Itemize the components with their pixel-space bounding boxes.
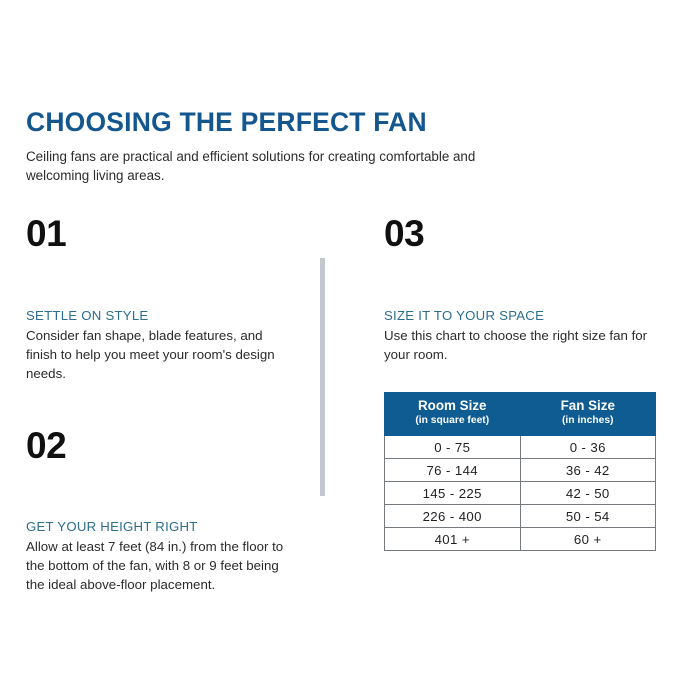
step-number-02: 02 xyxy=(26,427,288,464)
step-block-02: 02 GET YOUR HEIGHT RIGHT Allow at least … xyxy=(26,427,288,594)
table-row: 0 - 75 0 - 36 xyxy=(385,436,656,459)
column-divider xyxy=(320,258,325,496)
page-title: CHOOSING THE PERFECT FAN xyxy=(26,108,526,138)
table-header: Room Size (in square feet) Fan Size (in … xyxy=(385,393,656,436)
cell-fan-size: 50 - 54 xyxy=(520,505,656,528)
step-body-03: Use this chart to choose the right size … xyxy=(384,326,664,364)
header: CHOOSING THE PERFECT FAN Ceiling fans ar… xyxy=(26,108,526,186)
fan-size-table: Room Size (in square feet) Fan Size (in … xyxy=(384,392,656,551)
table-row: 226 - 400 50 - 54 xyxy=(385,505,656,528)
intro-paragraph: Ceiling fans are practical and efficient… xyxy=(26,147,478,186)
table-row: 76 - 144 36 - 42 xyxy=(385,459,656,482)
column-header-room-size: Room Size (in square feet) xyxy=(385,393,521,436)
column-header-fan-size-main: Fan Size xyxy=(523,398,654,414)
column-header-room-size-sub: (in square feet) xyxy=(387,415,518,428)
column-header-fan-size-sub: (in inches) xyxy=(523,415,654,428)
step-heading-01: SETTLE ON STYLE xyxy=(26,308,288,324)
cell-fan-size: 42 - 50 xyxy=(520,482,656,505)
cell-room-size: 145 - 225 xyxy=(385,482,521,505)
table-row: 145 - 225 42 - 50 xyxy=(385,482,656,505)
step-heading-03: SIZE IT TO YOUR SPACE xyxy=(384,308,664,324)
step-body-01: Consider fan shape, blade features, and … xyxy=(26,326,288,383)
infographic-page: CHOOSING THE PERFECT FAN Ceiling fans ar… xyxy=(0,0,700,700)
table-body: 0 - 75 0 - 36 76 - 144 36 - 42 145 - 225… xyxy=(385,436,656,551)
step-number-03: 03 xyxy=(384,215,664,252)
cell-room-size: 76 - 144 xyxy=(385,459,521,482)
cell-room-size: 226 - 400 xyxy=(385,505,521,528)
step-heading-02: GET YOUR HEIGHT RIGHT xyxy=(26,519,288,535)
column-header-room-size-main: Room Size xyxy=(387,398,518,414)
cell-fan-size: 36 - 42 xyxy=(520,459,656,482)
table-row: 401 + 60 + xyxy=(385,528,656,551)
step-block-01: 01 SETTLE ON STYLE Consider fan shape, b… xyxy=(26,215,288,383)
cell-room-size: 401 + xyxy=(385,528,521,551)
column-header-fan-size: Fan Size (in inches) xyxy=(520,393,656,436)
step-number-01: 01 xyxy=(26,215,288,252)
left-column: 01 SETTLE ON STYLE Consider fan shape, b… xyxy=(26,215,288,595)
table-header-row: Room Size (in square feet) Fan Size (in … xyxy=(385,393,656,436)
step-block-03: 03 SIZE IT TO YOUR SPACE Use this chart … xyxy=(384,215,664,364)
cell-room-size: 0 - 75 xyxy=(385,436,521,459)
step-body-02: Allow at least 7 feet (84 in.) from the … xyxy=(26,537,288,594)
cell-fan-size: 60 + xyxy=(520,528,656,551)
right-column: 03 SIZE IT TO YOUR SPACE Use this chart … xyxy=(384,215,664,551)
cell-fan-size: 0 - 36 xyxy=(520,436,656,459)
